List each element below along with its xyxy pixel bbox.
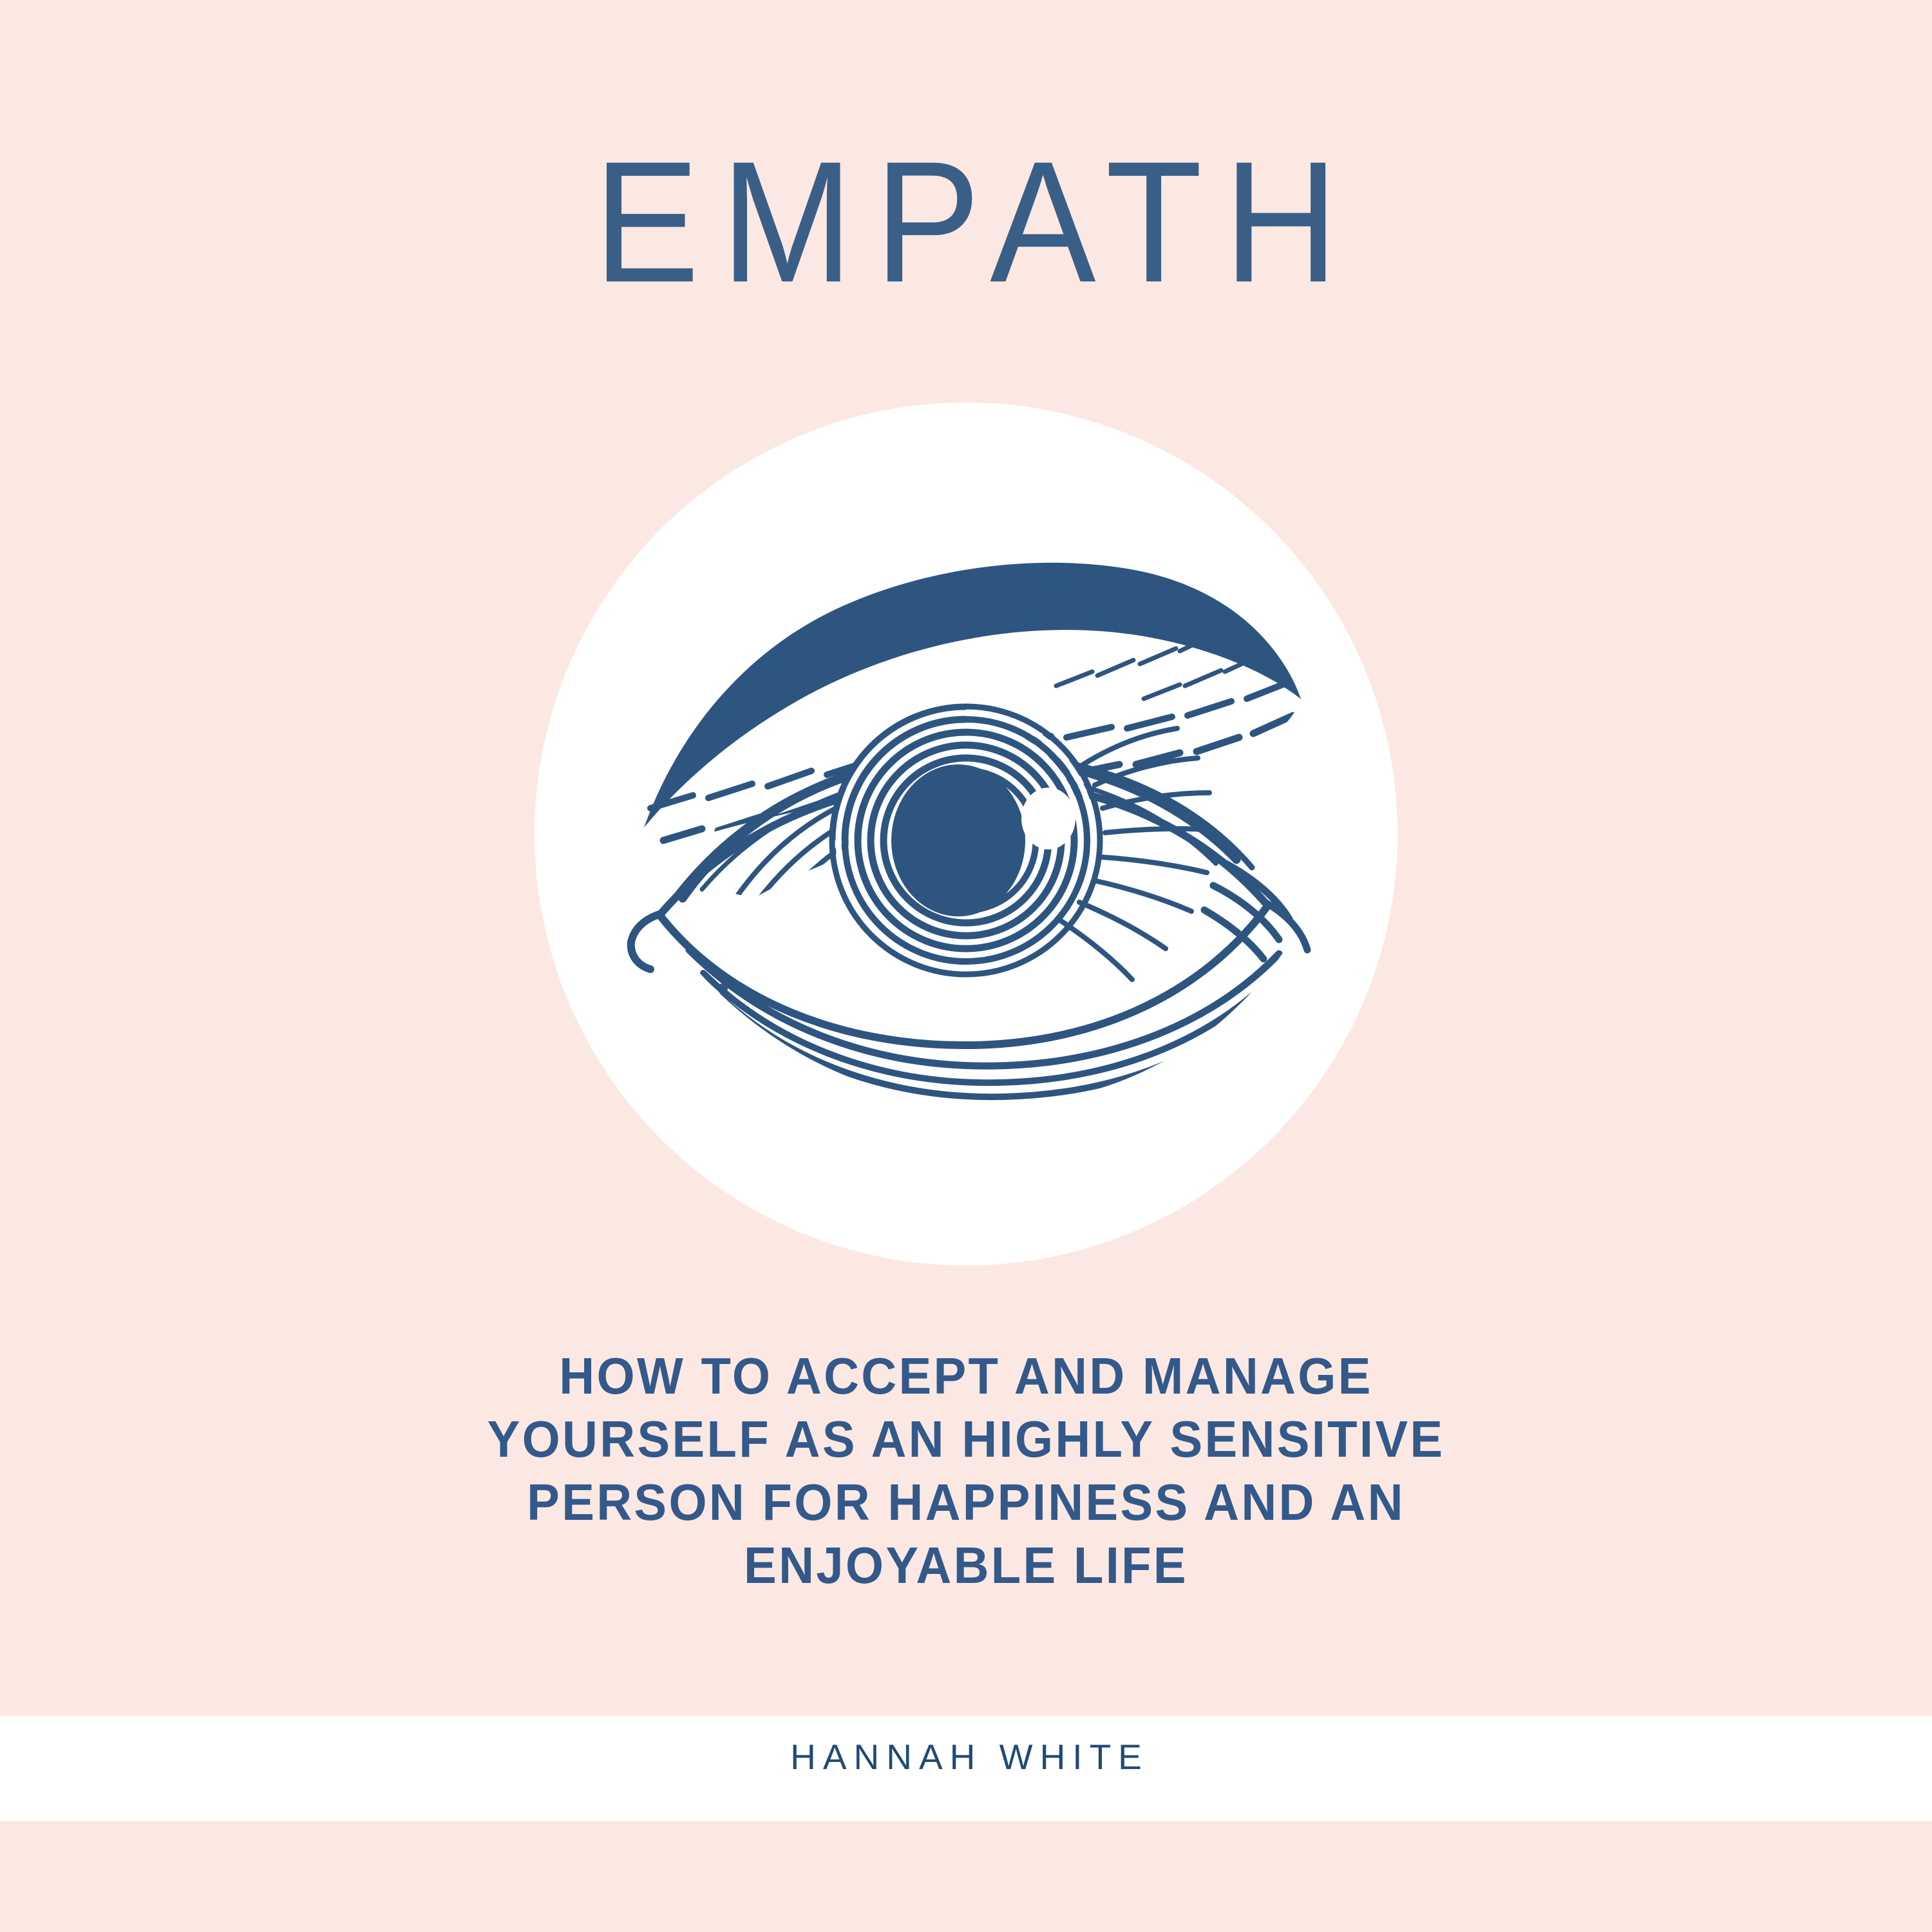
pupil <box>891 764 1025 916</box>
subtitle-line-1: HOW TO ACCEPT AND MANAGE <box>48 1345 1884 1408</box>
subtitle-line-3: PERSON FOR HAPPINESS AND AN <box>48 1471 1884 1534</box>
subtitle-line-4: ENJOYABLE LIFE <box>48 1534 1884 1597</box>
book-cover: EMPATH <box>0 0 1932 1932</box>
engraved-eye-illustration-icon <box>605 538 1327 1130</box>
tear-duct <box>1204 860 1307 959</box>
emblem-circle <box>535 402 1397 1265</box>
lower-lid-dot <box>717 983 728 994</box>
pupil-highlight <box>1021 788 1075 849</box>
title-block: EMPATH <box>0 135 1932 308</box>
page-title: EMPATH <box>77 135 1855 308</box>
author-name: HANNAH WHITE <box>0 1739 1932 1775</box>
subtitle-line-2: YOURSELF AS AN HIGHLY SENSITIVE <box>48 1408 1884 1471</box>
inner-corner <box>631 914 661 969</box>
author-band: HANNAH WHITE <box>0 1716 1932 1821</box>
subtitle-block: HOW TO ACCEPT AND MANAGE YOURSELF AS AN … <box>0 1345 1932 1597</box>
